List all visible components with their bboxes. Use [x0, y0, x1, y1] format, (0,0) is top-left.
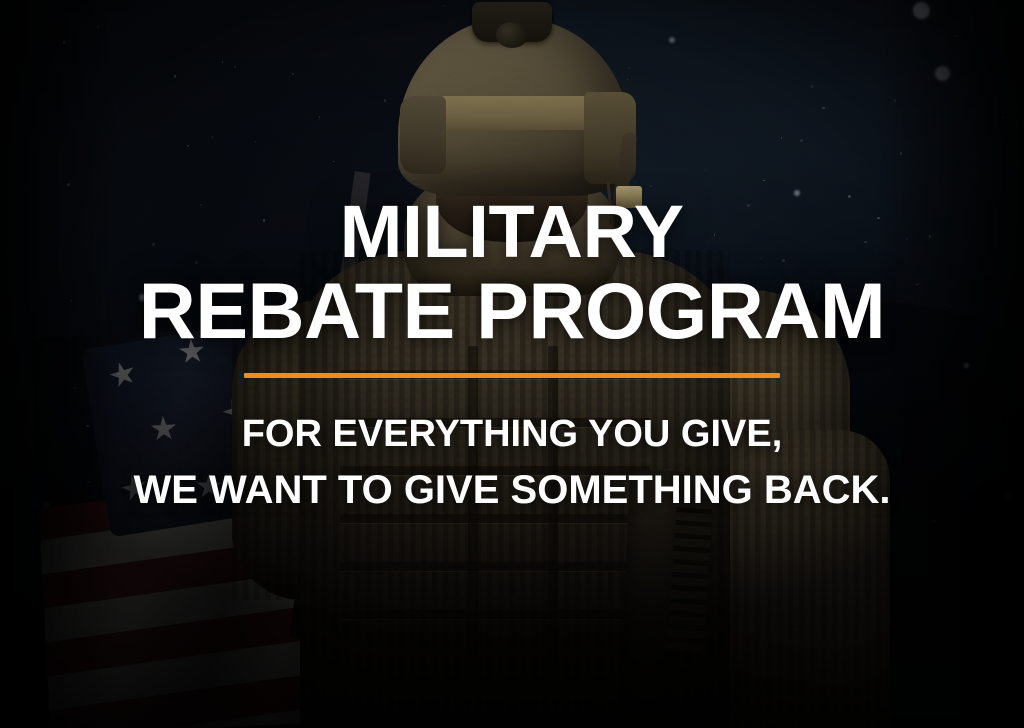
soldier-photo — [0, 0, 1024, 728]
military-rebate-banner: MILITARY REBATE PROGRAM FOR EVERYTHING Y… — [0, 0, 1024, 728]
helmet-rail-left — [400, 96, 446, 174]
night-vision-knob — [496, 22, 528, 48]
helmet-velcro-panel — [430, 96, 608, 130]
helmet-ir-patch — [616, 186, 642, 208]
